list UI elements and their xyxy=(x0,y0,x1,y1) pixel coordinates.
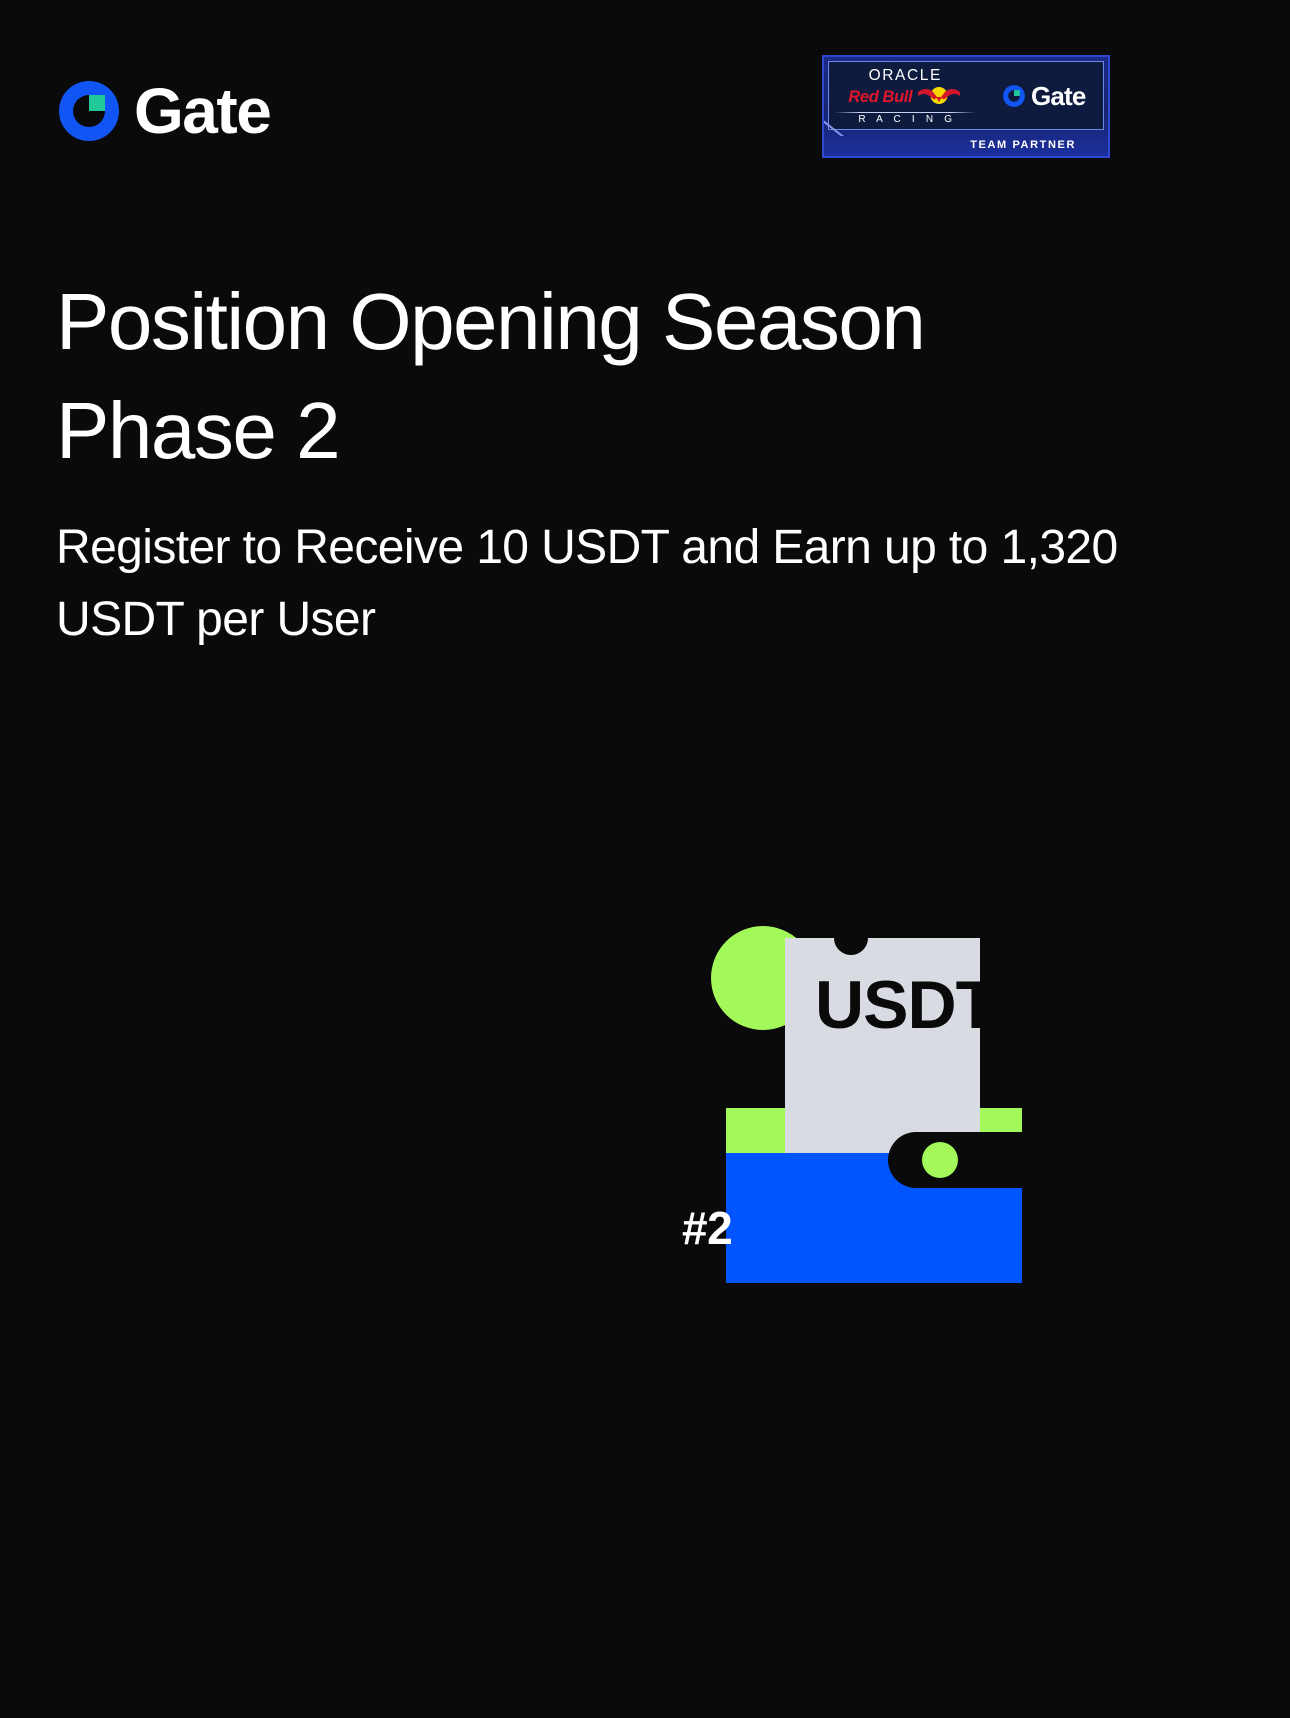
red-bull-wordmark: Red Bull xyxy=(848,89,912,106)
page-title: Position Opening Season Phase 2 xyxy=(56,268,1056,486)
wallet-clasp xyxy=(888,1132,1022,1188)
team-partner-label: TEAM PARTNER xyxy=(970,139,1076,151)
oracle-wordmark: ORACLE xyxy=(869,68,942,84)
gate-logo-icon xyxy=(1002,84,1026,108)
usdt-card-label: USDT xyxy=(815,967,997,1043)
oracle-red-bull-racing-team-partner-badge: ORACLE Red Bull R A C I N G xyxy=(822,55,1110,158)
gate-wordmark: Gate xyxy=(134,79,270,143)
badge-footer: TEAM PARTNER xyxy=(822,132,1110,158)
red-bull-charging-bulls-icon xyxy=(916,85,962,109)
gate-brand-logo[interactable]: Gate xyxy=(56,78,270,144)
wallet-number-label: #2 xyxy=(682,1205,732,1251)
badge-gate-wordmark: Gate xyxy=(1031,83,1086,109)
badge-gate-lockup: Gate xyxy=(984,83,1104,109)
gate-logo-icon xyxy=(56,78,122,144)
red-bull-lockup: Red Bull xyxy=(848,85,962,109)
promo-banner: Gate ORACLE Red Bull xyxy=(0,0,1290,1718)
green-tab-left xyxy=(726,1108,785,1153)
page-subtitle: Register to Receive 10 USDT and Earn up … xyxy=(56,512,1136,655)
